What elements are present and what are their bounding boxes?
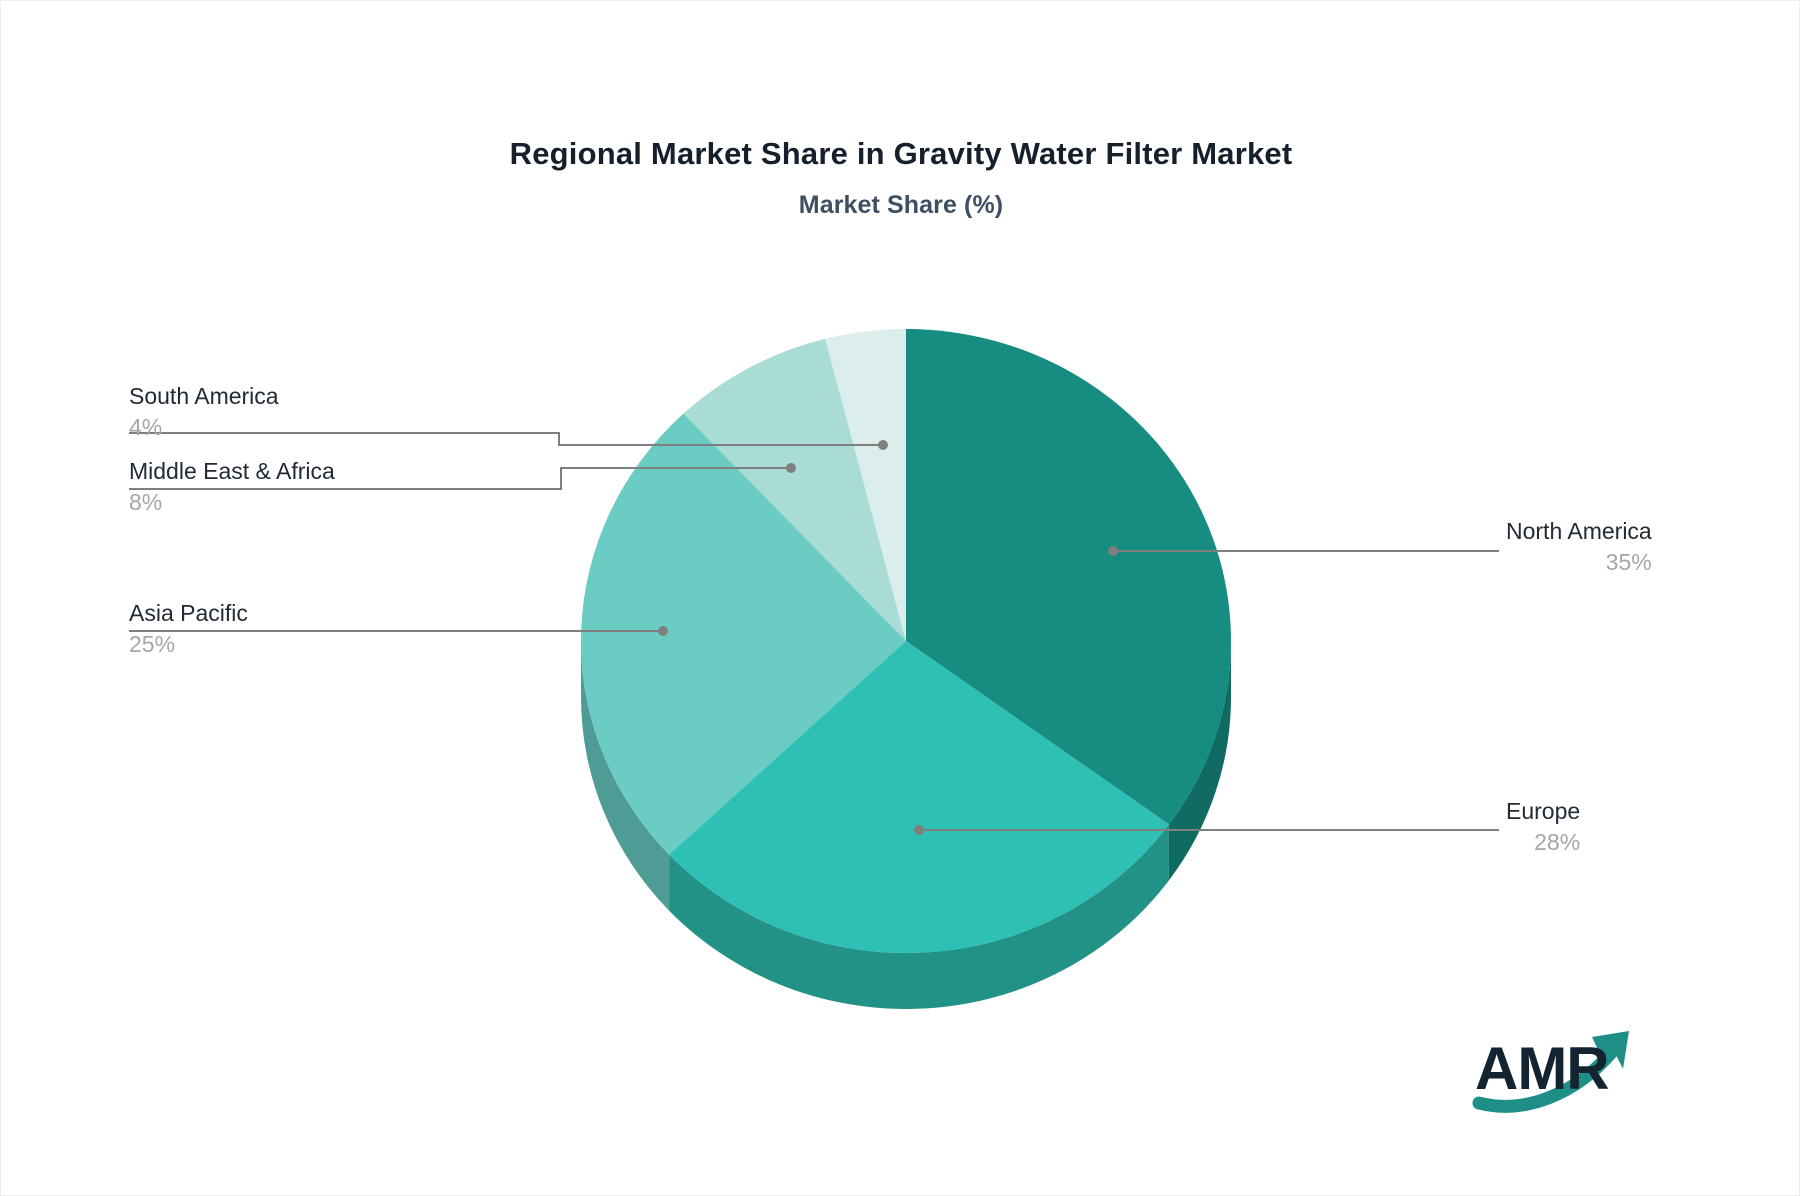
amr-logo: AMR bbox=[1471, 1023, 1651, 1113]
leader-dot-south-america bbox=[878, 440, 888, 450]
chart-canvas: Regional Market Share in Gravity Water F… bbox=[0, 0, 1800, 1196]
callout-value-asia-pacific: 25% bbox=[129, 628, 248, 660]
callout-north-america: North America 35% bbox=[1506, 516, 1652, 578]
leader-dot-north-america bbox=[1108, 546, 1118, 556]
pie-slices-group bbox=[581, 329, 1231, 953]
callout-asia-pacific: Asia Pacific 25% bbox=[129, 598, 248, 660]
callout-value-europe: 28% bbox=[1506, 826, 1580, 858]
callout-europe: Europe 28% bbox=[1506, 796, 1580, 858]
callout-middle-east-africa: Middle East & Africa 8% bbox=[129, 456, 335, 518]
callout-label-middle-east-africa: Middle East & Africa bbox=[129, 456, 335, 486]
callout-value-middle-east-africa: 8% bbox=[129, 486, 335, 518]
callout-south-america: South America 4% bbox=[129, 381, 279, 443]
leader-dot-asia-pacific bbox=[658, 626, 668, 636]
callout-value-north-america: 35% bbox=[1506, 546, 1652, 578]
leader-dot-europe bbox=[914, 825, 924, 835]
callout-value-south-america: 4% bbox=[129, 411, 279, 443]
leader-dot-middle-east-africa bbox=[786, 463, 796, 473]
logo-wordmark: AMR bbox=[1475, 1035, 1609, 1102]
pie-chart bbox=[1, 1, 1800, 1196]
callout-label-asia-pacific: Asia Pacific bbox=[129, 598, 248, 628]
callout-label-europe: Europe bbox=[1506, 796, 1580, 826]
callout-label-south-america: South America bbox=[129, 381, 279, 411]
callout-label-north-america: North America bbox=[1506, 516, 1652, 546]
